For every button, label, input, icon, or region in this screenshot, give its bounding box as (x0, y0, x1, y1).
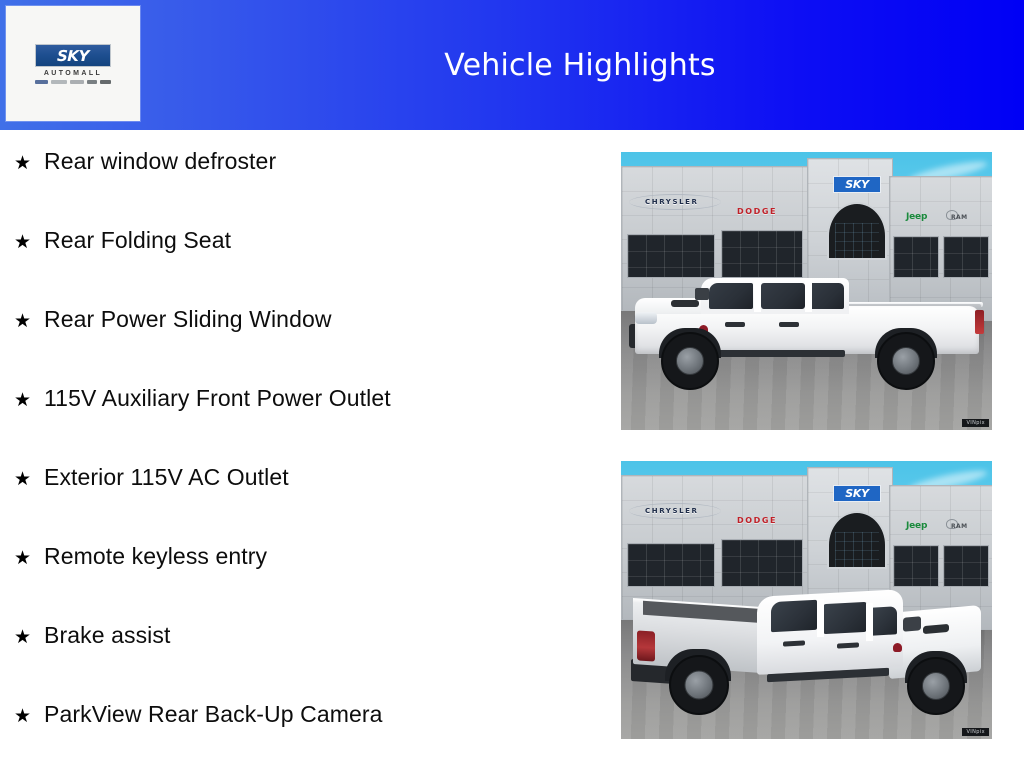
ram-sign: RAM (951, 523, 967, 530)
rear-wheel (877, 332, 935, 390)
b-pillar (817, 599, 824, 637)
page-title: Vehicle Highlights (140, 0, 1024, 130)
arch-glass (835, 532, 879, 567)
door-handle (779, 322, 799, 327)
front-door-window (709, 283, 753, 309)
brand-logo-row (35, 80, 111, 84)
star-icon: ★ (14, 391, 44, 410)
list-item: ★ Rear Folding Seat (0, 227, 600, 306)
dealer-logo-inner: SKY AUTOMALL (6, 44, 140, 84)
vehicle-photo-side[interactable]: CHRYSLER DODGE SKY Jeep RAM (621, 152, 992, 430)
chrysler-sign: CHRYSLER (645, 507, 699, 515)
sky-sign-text: SKY (845, 487, 869, 500)
sky-sign: SKY (833, 485, 881, 502)
feature-list: ★ Rear window defroster ★ Rear Folding S… (0, 130, 600, 768)
vehicle-photo-rear-quarter[interactable]: CHRYSLER DODGE SKY Jeep RAM (621, 461, 992, 739)
wheel-rim (676, 347, 704, 375)
front-door-window (823, 602, 867, 634)
dealer-logo[interactable]: SKY AUTOMALL (6, 6, 140, 121)
front-wheel (661, 332, 719, 390)
star-icon: ★ (14, 312, 44, 331)
dodge-brand-icon (51, 80, 67, 84)
taillight (975, 310, 984, 334)
hood-scoop (671, 300, 699, 307)
wheel-rim (684, 670, 713, 699)
chrysler-brand-icon (35, 80, 48, 84)
list-item: ★ 115V Auxiliary Front Power Outlet (0, 385, 600, 464)
vehicle-highlights-slide: SKY AUTOMALL Vehicle Highlights ★ Rear w… (0, 0, 1024, 768)
star-icon: ★ (14, 470, 44, 489)
wheel-rim (922, 672, 950, 700)
rear-wheel (669, 655, 729, 715)
photo-watermark: VINpix (962, 728, 989, 736)
truck-rear-quarter (631, 579, 983, 711)
side-mirror (695, 288, 709, 300)
star-icon: ★ (14, 707, 44, 726)
jeep-brand-icon (70, 80, 84, 84)
jeep-sign: Jeep (906, 212, 927, 222)
feature-label: Rear window defroster (44, 148, 276, 175)
ram-brand-icon (87, 80, 97, 84)
side-mirror (903, 616, 921, 632)
door-handle (725, 322, 745, 327)
list-item: ★ Exterior 115V AC Outlet (0, 464, 600, 543)
list-item: ★ ParkView Rear Back-Up Camera (0, 701, 600, 768)
feature-label: Rear Folding Seat (44, 227, 231, 254)
quarter-window (810, 283, 844, 309)
sky-sign-text: SKY (845, 178, 869, 191)
feature-label: Remote keyless entry (44, 543, 267, 570)
wheel-rim (892, 347, 920, 375)
sky-logo-badge: SKY (35, 44, 111, 67)
list-item: ★ Remote keyless entry (0, 543, 600, 622)
ram-emblem-icon (893, 643, 902, 652)
list-item: ★ Brake assist (0, 622, 600, 701)
feature-label: Exterior 115V AC Outlet (44, 464, 289, 491)
dodge-sign: DODGE (737, 516, 777, 525)
star-icon: ★ (14, 233, 44, 252)
list-item: ★ Rear Power Sliding Window (0, 306, 600, 385)
star-icon: ★ (14, 549, 44, 568)
header-banner: SKY AUTOMALL Vehicle Highlights (0, 0, 1024, 130)
a-pillar (866, 603, 873, 641)
b-pillar (754, 280, 761, 312)
jeep-sign: Jeep (906, 521, 927, 531)
automall-tagline: AUTOMALL (44, 70, 102, 77)
star-icon: ★ (14, 154, 44, 173)
front-wheel (907, 657, 965, 715)
feature-label: Brake assist (44, 622, 170, 649)
fiat-brand-icon (100, 80, 111, 84)
ram-sign: RAM (951, 214, 967, 221)
sky-sign: SKY (833, 176, 881, 193)
list-item: ★ Rear window defroster (0, 148, 600, 227)
rear-door-window (761, 283, 805, 309)
feature-label: 115V Auxiliary Front Power Outlet (44, 385, 391, 412)
feature-label: Rear Power Sliding Window (44, 306, 332, 333)
dodge-sign: DODGE (737, 207, 777, 216)
windshield (871, 606, 897, 635)
truck-side-profile (629, 262, 985, 390)
rear-door-window (771, 600, 817, 632)
headlight (635, 312, 657, 324)
chrysler-sign: CHRYSLER (645, 198, 699, 206)
photo-watermark: VINpix (962, 419, 989, 427)
taillight (637, 630, 655, 661)
arch-glass (835, 223, 879, 258)
c-pillar (805, 280, 812, 312)
rocker-panel (711, 350, 845, 357)
feature-label: ParkView Rear Back-Up Camera (44, 701, 383, 728)
sky-logo-text: SKY (57, 47, 89, 65)
star-icon: ★ (14, 628, 44, 647)
